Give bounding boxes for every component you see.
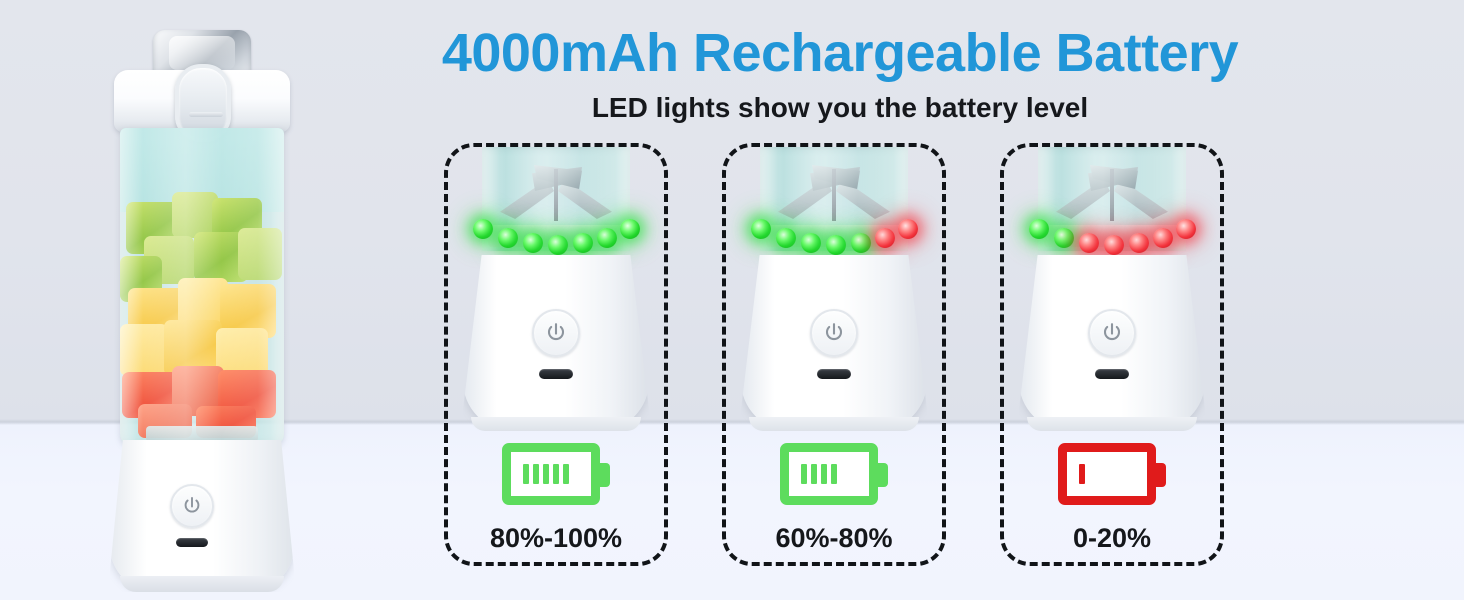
power-button[interactable] xyxy=(1088,309,1136,357)
led-indicator-band xyxy=(751,219,917,259)
usb-c-port xyxy=(539,369,573,379)
battery-bar xyxy=(1109,464,1115,484)
battery-icon-wrap xyxy=(491,438,621,510)
battery-bar xyxy=(821,464,827,484)
led-light xyxy=(1104,235,1124,255)
battery-bars xyxy=(798,461,850,487)
power-button[interactable] xyxy=(810,309,858,357)
power-icon xyxy=(544,321,568,345)
battery-bar xyxy=(533,464,539,484)
led-light xyxy=(1129,233,1149,253)
battery-bar xyxy=(811,464,817,484)
battery-level-card-low: 0-20% xyxy=(1000,143,1224,566)
usb-c-port xyxy=(1095,369,1129,379)
battery-bar xyxy=(1119,464,1125,484)
led-light xyxy=(776,228,796,248)
battery-bar xyxy=(1089,464,1095,484)
power-button[interactable] xyxy=(532,309,580,357)
battery-bar xyxy=(1099,464,1105,484)
power-icon xyxy=(822,321,846,345)
battery-icon-wrap xyxy=(1047,438,1177,510)
battery-bar xyxy=(553,464,559,484)
led-light xyxy=(1153,228,1173,248)
battery-body xyxy=(502,443,600,505)
battery-range-label: 80%-100% xyxy=(444,523,668,554)
led-light xyxy=(1079,233,1099,253)
battery-bar xyxy=(1079,464,1085,484)
led-light xyxy=(620,219,640,239)
led-light xyxy=(801,233,821,253)
led-light xyxy=(751,219,771,239)
led-light xyxy=(498,228,518,248)
battery-bar xyxy=(841,464,847,484)
power-button[interactable] xyxy=(170,484,214,528)
power-icon xyxy=(1100,321,1124,345)
battery-bar xyxy=(563,464,569,484)
led-light xyxy=(851,233,871,253)
battery-range-label: 60%-80% xyxy=(722,523,946,554)
battery-icon xyxy=(1058,443,1166,505)
mini-base-foot xyxy=(471,417,641,431)
led-indicator-band xyxy=(1029,219,1195,259)
led-light xyxy=(826,235,846,255)
power-icon xyxy=(181,495,203,517)
mini-blender xyxy=(741,147,927,431)
battery-bar xyxy=(801,464,807,484)
battery-bar xyxy=(831,464,837,484)
led-light xyxy=(1054,228,1074,248)
battery-cap xyxy=(1154,463,1166,487)
battery-bars xyxy=(520,461,572,487)
mini-base-foot xyxy=(1027,417,1197,431)
battery-cap xyxy=(598,463,610,487)
battery-level-card-medium: 60%-80% xyxy=(722,143,946,566)
led-light xyxy=(898,219,918,239)
led-light xyxy=(473,219,493,239)
jar-gloss xyxy=(120,128,284,446)
usb-c-port xyxy=(176,538,208,547)
hero-blender xyxy=(96,22,308,592)
led-light xyxy=(1029,219,1049,239)
mini-base-foot xyxy=(749,417,919,431)
mini-blender xyxy=(463,147,649,431)
battery-body xyxy=(1058,443,1156,505)
led-light xyxy=(523,233,543,253)
battery-body xyxy=(780,443,878,505)
led-light xyxy=(573,233,593,253)
blender-base-foot xyxy=(120,576,284,592)
page-subtitle: LED lights show you the battery level xyxy=(380,92,1300,124)
battery-bar xyxy=(543,464,549,484)
mini-blender xyxy=(1019,147,1205,431)
infographic-stage: 4000mAh Rechargeable Battery LED lights … xyxy=(0,0,1464,600)
blender-jar xyxy=(120,128,284,446)
led-light xyxy=(1176,219,1196,239)
battery-level-card-high: 80%-100% xyxy=(444,143,668,566)
battery-range-label: 0-20% xyxy=(1000,523,1224,554)
led-light xyxy=(875,228,895,248)
battery-icon-wrap xyxy=(769,438,899,510)
battery-bars xyxy=(1076,461,1128,487)
led-light xyxy=(597,228,617,248)
led-indicator-band xyxy=(473,219,639,259)
battery-icon xyxy=(502,443,610,505)
usb-c-port xyxy=(817,369,851,379)
led-light xyxy=(548,235,568,255)
page-title: 4000mAh Rechargeable Battery xyxy=(380,22,1300,84)
battery-cap xyxy=(876,463,888,487)
battery-bar xyxy=(523,464,529,484)
battery-icon xyxy=(780,443,888,505)
